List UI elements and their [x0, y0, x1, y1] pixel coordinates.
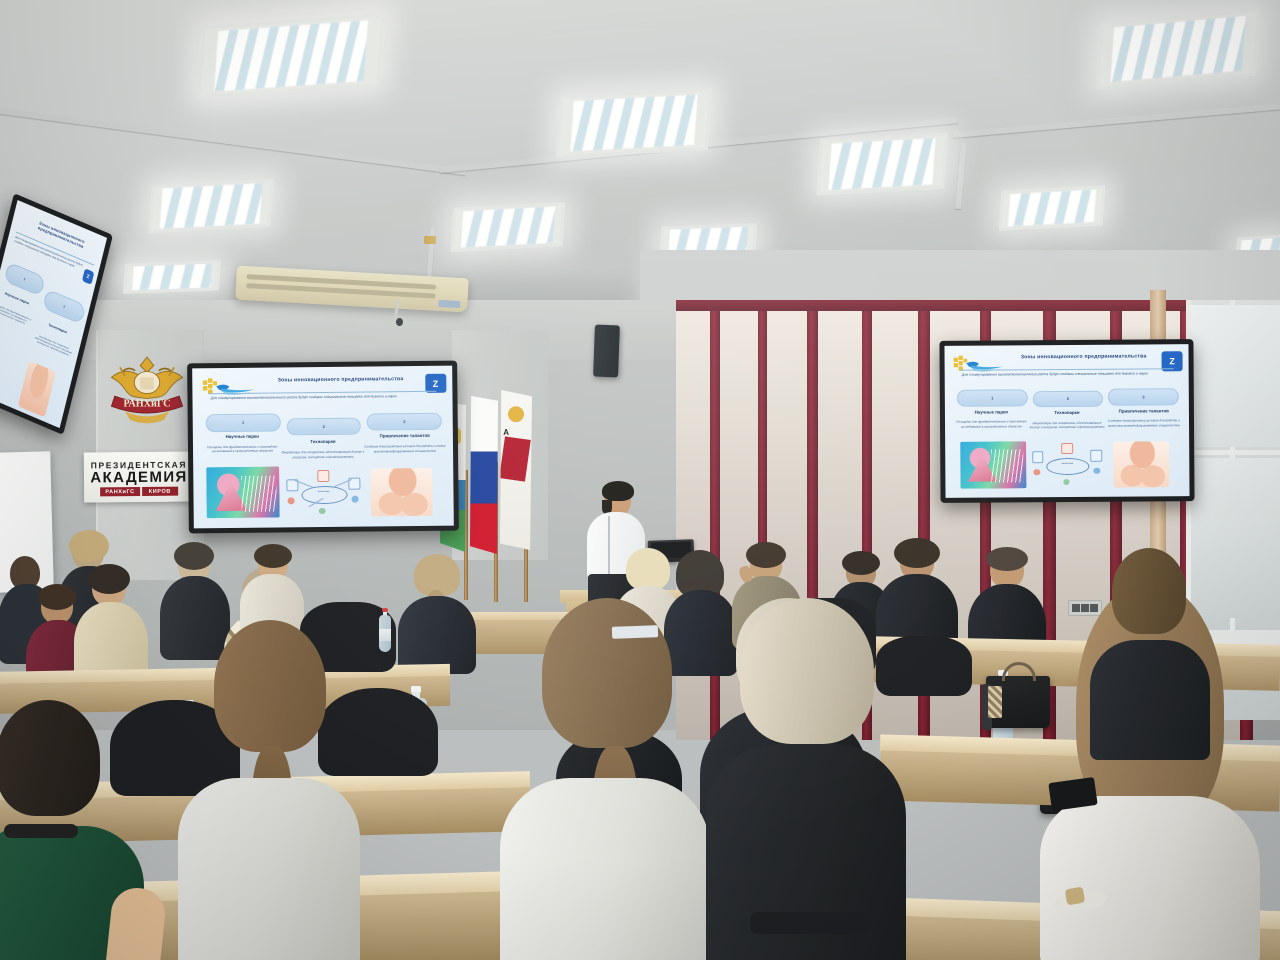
notebook[interactable]	[612, 625, 658, 639]
slide-talent-illustration	[18, 360, 56, 417]
slide-column-text: Создание благоприятных условий для работ…	[362, 444, 448, 454]
slide-step-pill: 3	[367, 413, 442, 431]
audience-member-foreground	[178, 634, 360, 960]
slide-column-text: Площадки для фундаментальных и прикладны…	[0, 303, 33, 329]
academy-flag: A	[500, 390, 532, 550]
diagram-center-label: экосистема	[308, 491, 339, 493]
ceiling-lamp	[148, 179, 273, 234]
slide-column-heading: Привлечение талантов	[364, 433, 445, 439]
slide-column-text: Инкубаторы для стартапов, обеспечивающие…	[281, 450, 364, 460]
audience-member-foreground	[706, 616, 906, 960]
wristwatch	[1065, 887, 1086, 906]
slide-column-text: Инкубаторы для стартапов, обеспечивающие…	[1028, 421, 1106, 431]
slide-column-heading: Технопарки	[284, 439, 362, 445]
slide-step-pill: 3	[1108, 388, 1178, 405]
slide-step-pill: 1	[3, 261, 46, 297]
ceiling-lamp	[198, 13, 385, 98]
academy-sign: ПРЕЗИДЕНТСКАЯ АКАДЕМИЯ РАНХиГС КИРОВ	[84, 452, 194, 503]
slide-step-pill: 2	[286, 418, 361, 436]
slide-ecosystem-diagram: экосистема	[1031, 440, 1105, 489]
slide-column-text: Площадки для фундаментальных и прикладны…	[952, 420, 1030, 430]
right-monitor-slide: Зоны инновационного предпринимательства …	[944, 344, 1189, 498]
ac-fitting	[396, 318, 403, 326]
slide-z-logo: Z	[82, 268, 95, 285]
academy-sign-line2: АКАДЕМИЯ	[90, 470, 187, 486]
slide-step-pill: 1	[957, 389, 1027, 406]
ceiling-lamp	[451, 202, 566, 252]
slide-column-heading: Технопарки	[1030, 410, 1103, 416]
slide-column-text: Площадки для фундаментальных и прикладны…	[201, 444, 284, 454]
slide-step-pill: 2	[42, 288, 86, 325]
slide-step-pill: 2	[1033, 390, 1103, 407]
slide-column-text: Создание благоприятных условий для работ…	[1104, 419, 1185, 429]
ceiling-lamp	[556, 88, 712, 158]
slide-column-heading: Научные парки	[955, 409, 1028, 415]
slide-ecosystem-diagram: экосистема	[284, 467, 363, 519]
conduit-clip	[424, 236, 436, 244]
russian-federation-flag	[470, 396, 498, 554]
slide-subtitle: Для стимулирования высокотехнологичного …	[962, 371, 1172, 378]
crest-label: РАНХиГС	[124, 398, 171, 409]
water-bottle[interactable]	[378, 608, 392, 652]
diagram-center-label: экосистема	[1053, 463, 1082, 465]
front-main-screen[interactable]: Зоны инновационного предпринимательства …	[187, 361, 459, 534]
slide-title: Зоны инновационного предпринимательства	[1001, 353, 1167, 360]
slide-step-pill: 1	[206, 414, 281, 432]
audience-member	[1090, 558, 1210, 758]
ranepa-crest-icon: РАНХиГС	[104, 352, 190, 430]
lecture-hall-photo: РАНХиГС ПРЕЗИДЕНТСКАЯ АКАДЕМИЯ РАНХиГС К…	[0, 0, 1280, 960]
slide-talent-illustration	[1114, 442, 1170, 488]
academy-sign-badge-right: КИРОВ	[142, 487, 178, 496]
slide-column-heading: Привлечение талантов	[1106, 408, 1182, 414]
slide-science-park-photo	[206, 467, 279, 519]
slide-talent-illustration	[370, 468, 433, 517]
academy-sign-badge-left: РАНХиГС	[100, 487, 139, 496]
slide-title: Зоны инновационного предпринимательства	[252, 375, 429, 383]
ceiling-lamp	[123, 260, 221, 293]
right-wall-monitor[interactable]: Зоны инновационного предпринимательства …	[939, 339, 1194, 503]
slide-column-heading: Научные парки	[203, 433, 281, 439]
slide-subtitle: Для стимулирования высокотехнологичного …	[211, 394, 435, 402]
wall-speaker	[593, 325, 620, 378]
ceiling-lamp	[816, 133, 948, 196]
front-screen-slide: Зоны инновационного предпринимательства …	[192, 366, 454, 529]
audience-member	[398, 560, 476, 672]
audience-member-foreground	[500, 614, 710, 960]
slide-column-text: Инкубаторы для стартапов, обеспечивающие…	[31, 333, 75, 360]
slide-science-park-photo	[960, 441, 1026, 489]
audience-member-foreground	[0, 716, 150, 960]
ceiling-lamp	[999, 185, 1106, 231]
